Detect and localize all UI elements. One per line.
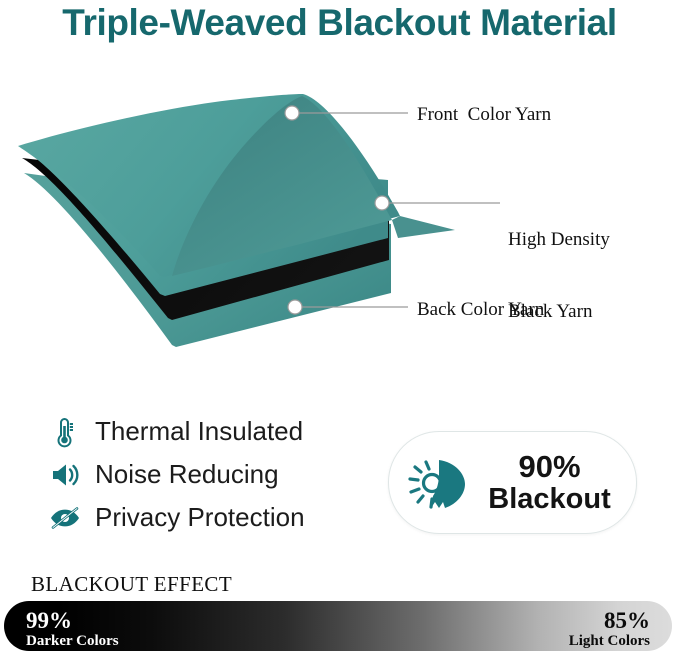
callout-line-1: High Density xyxy=(508,228,610,252)
feature-label: Privacy Protection xyxy=(95,502,305,533)
marker-back xyxy=(288,300,302,314)
blackout-rating-badge: 90% Blackout xyxy=(388,431,637,534)
feature-list: Thermal Insulated Noise Reducing Privacy… xyxy=(48,410,378,539)
feature-noise-reducing: Noise Reducing xyxy=(48,453,378,496)
feature-label: Thermal Insulated xyxy=(95,416,303,447)
feature-privacy-protection: Privacy Protection xyxy=(48,496,378,539)
sun-behind-curtain-icon xyxy=(407,452,473,514)
marker-high-density xyxy=(375,196,389,210)
bar-left-value: 99% Darker Colors xyxy=(26,609,119,650)
bar-right-sublabel: Light Colors xyxy=(569,634,650,650)
badge-text: 90% Blackout xyxy=(473,451,636,515)
thermometer-icon xyxy=(48,415,82,449)
callout-high-density-black-yarn: High Density Black Yarn xyxy=(508,180,610,348)
page-title: Triple-Weaved Blackout Material xyxy=(0,2,679,44)
speaker-icon xyxy=(48,458,82,492)
callout-back-color-yarn: Back Color Yarn xyxy=(417,298,544,322)
bar-right-value: 85% Light Colors xyxy=(569,609,650,650)
badge-percent: 90% xyxy=(473,451,626,484)
feature-label: Noise Reducing xyxy=(95,459,279,490)
bar-left-percent: 99% xyxy=(26,609,119,633)
eye-off-icon xyxy=(48,501,82,535)
badge-word: Blackout xyxy=(473,484,626,515)
feature-thermal-insulated: Thermal Insulated xyxy=(48,410,378,453)
bar-left-sublabel: Darker Colors xyxy=(26,634,119,650)
blackout-effect-gradient-bar: 99% Darker Colors 85% Light Colors xyxy=(4,601,672,651)
bar-right-percent: 85% xyxy=(569,609,650,633)
blackout-effect-title: BLACKOUT EFFECT xyxy=(31,572,232,597)
callout-front-color-yarn: Front Color Yarn xyxy=(417,103,551,127)
marker-front xyxy=(285,106,299,120)
